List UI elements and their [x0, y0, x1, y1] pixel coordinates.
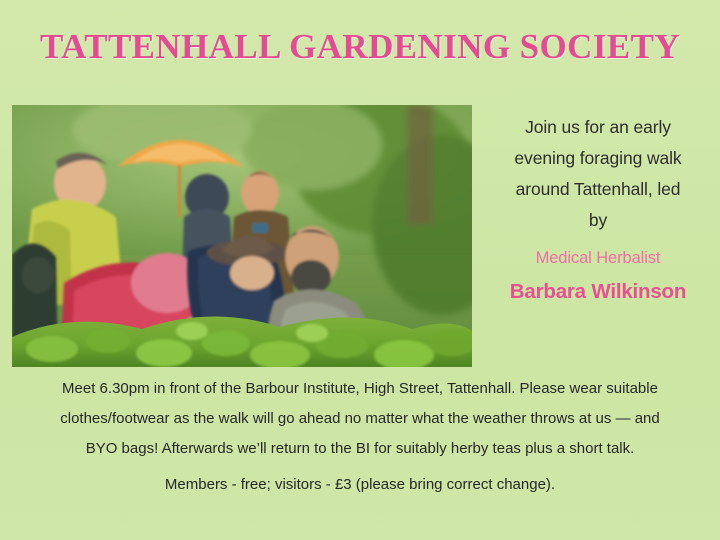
page-title: TATTENHALL GARDENING SOCIETY [0, 27, 720, 67]
details-line-2: clothes/footwear as the walk will go ahe… [14, 404, 706, 434]
invite-line-2: evening foraging walk [514, 148, 681, 168]
fees-line: Members - free; visitors - £3 (please br… [14, 470, 706, 500]
presenter-name: Barbara Wilkinson [482, 279, 714, 305]
poster-canvas: TATTENHALL GARDENING SOCIETY [0, 0, 720, 540]
invite-text-block: Join us for an early evening foraging wa… [482, 112, 714, 305]
invite-line-1: Join us for an early [525, 117, 671, 137]
herbalist-title: Medical Herbalist [482, 246, 714, 270]
details-line-1: Meet 6.30pm in front of the Barbour Inst… [14, 374, 706, 404]
event-details: Meet 6.30pm in front of the Barbour Inst… [14, 374, 706, 500]
photo-illustration [12, 105, 472, 367]
invite-lead: Join us for an early evening foraging wa… [482, 112, 714, 236]
invite-line-3: around Tattenhall, led [516, 179, 681, 199]
foraging-photo [12, 105, 472, 367]
details-line-3: BYO bags! Afterwards we’ll return to the… [14, 434, 706, 464]
invite-line-4: by [589, 210, 607, 230]
